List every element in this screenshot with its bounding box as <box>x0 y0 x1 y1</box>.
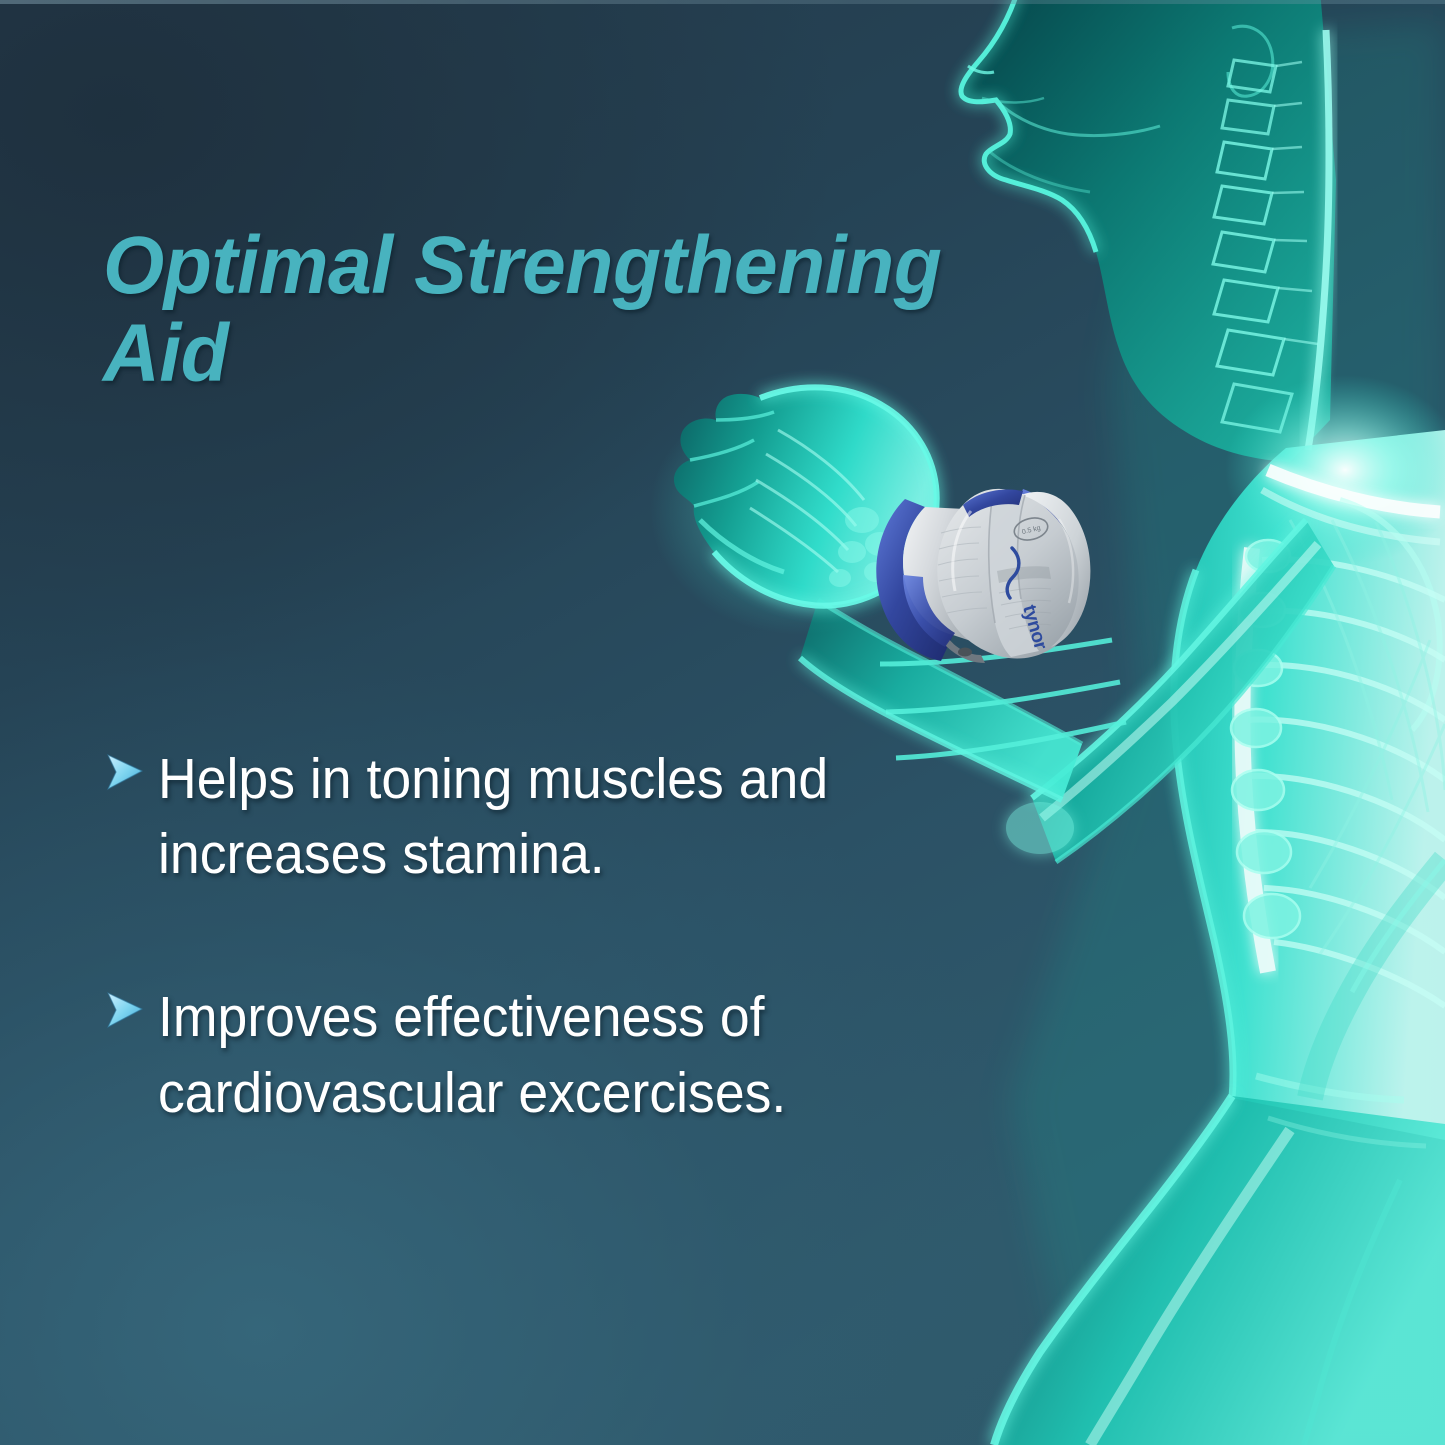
product-feature-poster: 0.5 kg tynor Optimal Strengthening Aid <box>0 0 1445 1445</box>
tynor-wrist-weight-product: 0.5 kg tynor <box>845 455 1120 685</box>
xray-torso <box>1174 375 1445 1140</box>
top-edge-hairline <box>0 0 1445 4</box>
page-title: Optimal Strengthening Aid <box>103 222 1073 397</box>
arrow-bullet-icon <box>104 742 158 792</box>
list-item: Helps in toning muscles and increases st… <box>104 742 1114 892</box>
list-item-label: Improves effectiveness of cardiovascular… <box>158 980 985 1130</box>
list-item: Improves effectiveness of cardiovascular… <box>104 980 1114 1130</box>
xray-cervical-spine <box>1213 60 1318 432</box>
xray-running-figure <box>0 0 1445 1445</box>
list-item-label: Helps in toning muscles and increases st… <box>158 742 985 892</box>
arrow-bullet-icon <box>104 980 158 1030</box>
xray-rear-arm <box>1310 860 1445 1098</box>
benefits-list: Helps in toning muscles and increases st… <box>104 742 1114 1131</box>
xray-lower-body <box>994 1076 1445 1445</box>
